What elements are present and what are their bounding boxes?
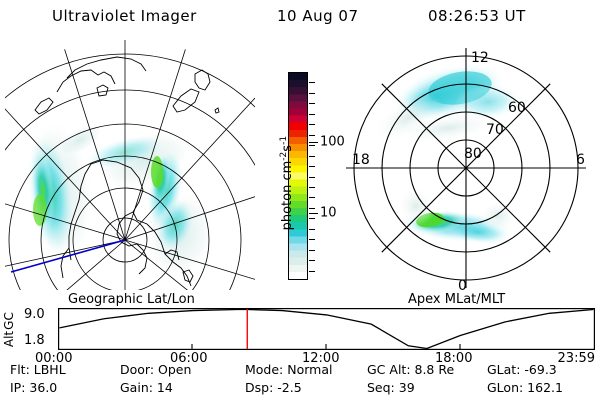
status-glon: GLon: 162.1 — [487, 382, 563, 394]
observation-date: 10 Aug 07 — [277, 7, 359, 25]
orbit-altitude-chart — [58, 308, 595, 350]
colorbar-unit-main: photon cm — [280, 161, 295, 231]
colorbar-minor-tick — [309, 208, 315, 209]
status-mode: Mode: Normal — [245, 364, 332, 376]
mlat-ring-label-60: 60 — [508, 100, 526, 116]
colorbar-unit-exp1: -2 — [279, 152, 289, 161]
colorbar-minor-tick — [309, 114, 315, 115]
colorbar-minor-tick — [309, 124, 315, 125]
colorbar-minor-tick — [309, 239, 315, 240]
colorbar-minor-tick — [309, 93, 315, 94]
colorbar-minor-tick — [309, 260, 315, 261]
header-bar: Ultraviolet Imager 10 Aug 07 08:26:53 UT — [0, 4, 600, 30]
colorbar: photon cm-2s-1 10010 — [256, 62, 336, 292]
colorbar-minor-tick — [309, 135, 315, 136]
status-ip: IP: 36.0 — [10, 382, 57, 394]
orbit-x-ticks — [192, 344, 460, 349]
colorbar-tick-label: 10 — [320, 207, 337, 220]
colorbar-minor-tick — [309, 145, 315, 146]
colorbar-minor-tick — [309, 197, 315, 198]
status-gain: Gain: 14 — [120, 382, 173, 394]
colorbar-minor-tick — [309, 82, 315, 83]
colorbar-major-tick — [309, 213, 318, 214]
status-dsp: Dsp: -2.5 — [245, 382, 302, 394]
mlt-label-right: 6 — [576, 152, 585, 168]
colorbar-minor-tick — [309, 271, 315, 272]
instrument-title: Ultraviolet Imager — [52, 7, 197, 25]
mlt-label-top: 12 — [471, 50, 489, 66]
colorbar-minor-tick — [309, 166, 315, 167]
orbit-altitude-strip[interactable]: Geographic Lat/Lon Apex MLat/MLT GC Alt … — [0, 292, 600, 354]
mlat-ring-label-80: 80 — [464, 146, 482, 162]
geographic-image-panel[interactable] — [5, 40, 255, 290]
status-glat: GLat: -69.3 — [487, 364, 557, 376]
colorbar-minor-tick — [309, 229, 315, 230]
status-footer: Flt: LBHL IP: 36.0 Door: Open Gain: 14 M… — [0, 362, 600, 400]
orbit-altitude-curve — [60, 310, 594, 349]
status-gc-alt: GC Alt: 8.8 Re — [367, 364, 454, 376]
geo-panel-caption: Geographic Lat/Lon — [68, 292, 195, 307]
mlat-ring-label-70: 70 — [486, 122, 504, 138]
orbit-ytick-top: 9.0 — [24, 308, 45, 321]
mlat-mlt-projection-svg: 12 6 0 18 60 70 80 — [338, 40, 593, 295]
colorbar-minor-tick — [309, 177, 315, 178]
colorbar-minor-tick — [309, 103, 315, 104]
orbit-ytick-bottom: 1.8 — [24, 334, 45, 347]
colorbar-minor-tick — [309, 156, 315, 157]
colorbar-minor-tick — [309, 187, 315, 188]
colorbar-axis-title: photon cm-2s-1 — [279, 108, 295, 258]
colorbar-minor-tick — [309, 250, 315, 251]
colorbar-unit-mid: s — [280, 145, 295, 152]
mlat-panel-caption: Apex MLat/MLT — [408, 292, 505, 307]
orbit-plot-area[interactable] — [58, 308, 595, 350]
status-filter: Flt: LBHL — [10, 364, 66, 376]
apex-mlat-mlt-panel[interactable]: 12 6 0 18 60 70 80 — [338, 40, 593, 295]
colorbar-unit-exp2: -1 — [279, 136, 289, 145]
geo-aurora-emission — [16, 114, 222, 285]
colorbar-major-tick — [309, 142, 318, 143]
status-seq: Seq: 39 — [367, 382, 415, 394]
geographic-projection-svg — [5, 40, 255, 290]
mlt-spokes — [346, 48, 586, 288]
colorbar-minor-tick — [309, 218, 315, 219]
status-door: Door: Open — [120, 364, 191, 376]
observation-time: 08:26:53 UT — [428, 7, 526, 25]
orbit-ylabel-alt: Alt — [2, 324, 16, 354]
mlt-label-left: 18 — [352, 152, 370, 168]
